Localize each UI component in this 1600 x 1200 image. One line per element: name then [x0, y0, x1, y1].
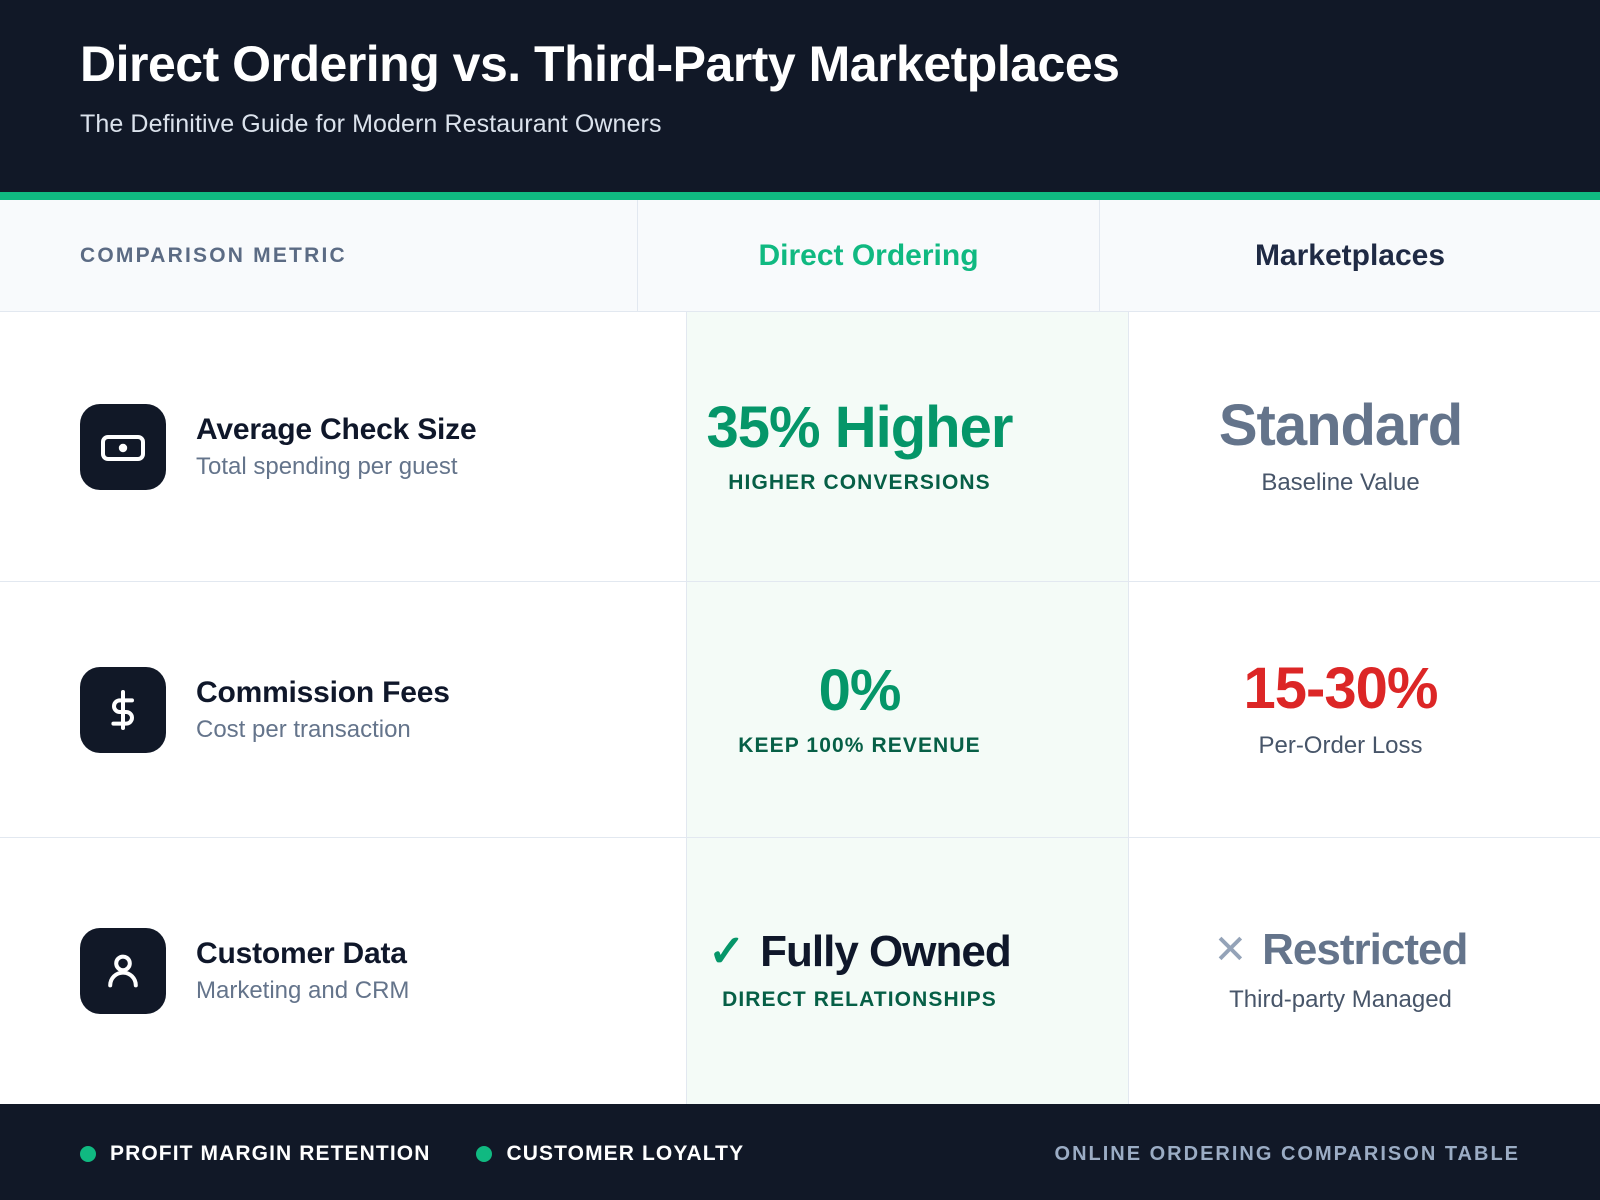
metric-text: Customer Data Marketing and CRM	[196, 937, 409, 1005]
page-footer: PROFIT MARGIN RETENTION CUSTOMER LOYALTY…	[0, 1104, 1600, 1200]
table-row: Customer Data Marketing and CRM ✓ Fully …	[0, 838, 1600, 1104]
metric-subtitle: Marketing and CRM	[196, 977, 409, 1005]
page-header: Direct Ordering vs. Third-Party Marketpl…	[0, 0, 1600, 192]
footer-legend: PROFIT MARGIN RETENTION CUSTOMER LOYALTY	[80, 1142, 744, 1166]
column-header-marketplaces: Marketplaces	[1100, 200, 1600, 311]
direct-value: Fully Owned	[760, 930, 1011, 974]
direct-value-cell: ✓ Fully Owned DIRECT RELATIONSHIPS	[638, 838, 1081, 1104]
marketplace-value-caption: Third-party Managed	[1229, 986, 1452, 1014]
metric-text: Commission Fees Cost per transaction	[196, 676, 450, 744]
comparison-table: COMPARISON METRIC Direct Ordering Market…	[0, 200, 1600, 1104]
direct-value-caption: HIGHER CONVERSIONS	[728, 471, 991, 495]
page-subtitle: The Definitive Guide for Modern Restaura…	[80, 110, 1600, 139]
table-body: Average Check Size Total spending per gu…	[0, 312, 1600, 1104]
direct-value-caption: DIRECT RELATIONSHIPS	[722, 988, 997, 1012]
metric-title: Commission Fees	[196, 676, 450, 710]
legend-label: CUSTOMER LOYALTY	[506, 1142, 744, 1166]
dollar-icon	[80, 667, 166, 753]
metric-cell: Average Check Size Total spending per gu…	[0, 404, 638, 490]
direct-value: 35% Higher	[707, 399, 1013, 457]
metric-subtitle: Cost per transaction	[196, 716, 450, 744]
banknote-icon	[80, 404, 166, 490]
footer-caption: ONLINE ORDERING COMPARISON TABLE	[1055, 1143, 1520, 1166]
table-row: Average Check Size Total spending per gu…	[0, 312, 1600, 582]
metric-cell: Customer Data Marketing and CRM	[0, 928, 638, 1014]
direct-value-caption: KEEP 100% REVENUE	[738, 734, 980, 758]
legend-item-customer-loyalty: CUSTOMER LOYALTY	[476, 1142, 744, 1166]
metric-text: Average Check Size Total spending per gu…	[196, 413, 476, 481]
metric-title: Average Check Size	[196, 413, 476, 447]
marketplace-value-cell: ✕ Restricted Third-party Managed	[1081, 838, 1600, 1104]
direct-value-wrap: ✓ Fully Owned	[708, 930, 1010, 974]
close-icon: ✕	[1214, 930, 1247, 970]
metric-cell: Commission Fees Cost per transaction	[0, 667, 638, 753]
legend-dot-icon	[80, 1146, 96, 1162]
direct-value: 0%	[819, 662, 901, 720]
legend-dot-icon	[476, 1146, 492, 1162]
column-header-direct-ordering: Direct Ordering	[638, 200, 1100, 311]
marketplace-value-caption: Per-Order Loss	[1258, 732, 1422, 760]
table-header-row: COMPARISON METRIC Direct Ordering Market…	[0, 200, 1600, 312]
metric-title: Customer Data	[196, 937, 409, 971]
comparison-infographic: Direct Ordering vs. Third-Party Marketpl…	[0, 0, 1600, 1200]
column-header-metric: COMPARISON METRIC	[0, 200, 638, 311]
marketplace-value-cell: Standard Baseline Value	[1081, 312, 1600, 581]
marketplace-value: Restricted	[1262, 928, 1467, 972]
marketplace-value-cell: 15-30% Per-Order Loss	[1081, 582, 1600, 837]
marketplace-value-caption: Baseline Value	[1261, 469, 1419, 497]
marketplace-value: 15-30%	[1244, 660, 1438, 718]
legend-label: PROFIT MARGIN RETENTION	[110, 1142, 430, 1166]
legend-item-profit-margin-retention: PROFIT MARGIN RETENTION	[80, 1142, 430, 1166]
page-title: Direct Ordering vs. Third-Party Marketpl…	[80, 36, 1600, 94]
marketplace-value: Standard	[1219, 397, 1462, 455]
marketplace-value-wrap: ✕ Restricted	[1214, 928, 1468, 972]
check-icon: ✓	[708, 930, 744, 974]
metric-subtitle: Total spending per guest	[196, 453, 476, 481]
accent-bar	[0, 192, 1600, 200]
user-icon	[80, 928, 166, 1014]
direct-value-cell: 0% KEEP 100% REVENUE	[638, 582, 1081, 837]
direct-value-cell: 35% Higher HIGHER CONVERSIONS	[638, 312, 1081, 581]
table-row: Commission Fees Cost per transaction 0% …	[0, 582, 1600, 838]
